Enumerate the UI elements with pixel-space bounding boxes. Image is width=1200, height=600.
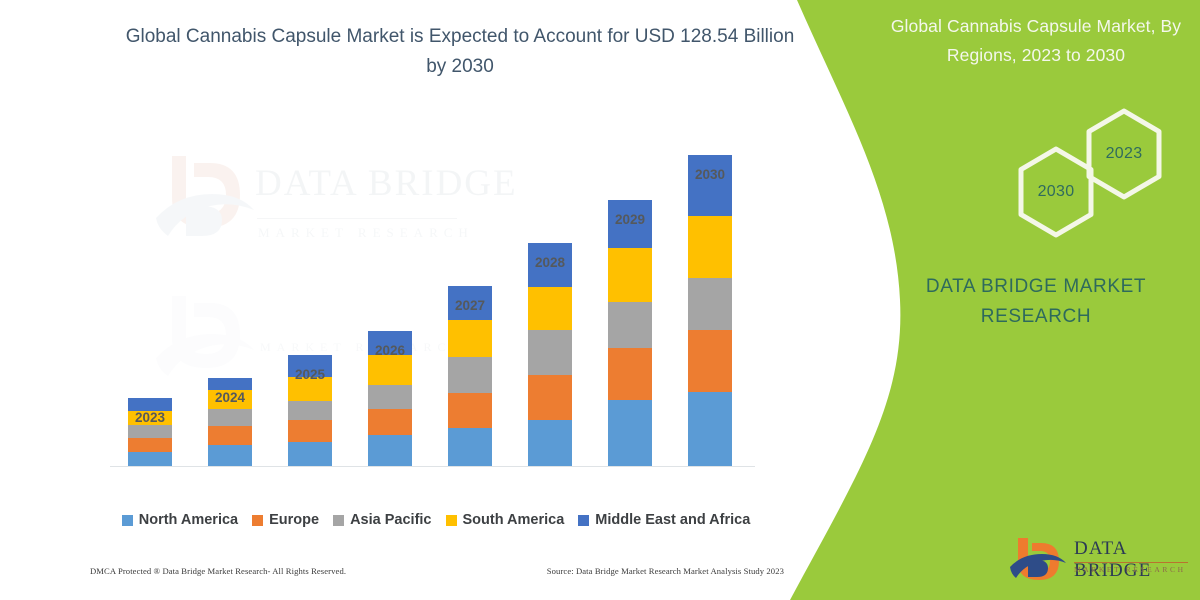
bar-column-2030[interactable]: 2030: [688, 155, 732, 466]
bar-segment-south-america[interactable]: [608, 248, 652, 302]
legend-label: Asia Pacific: [350, 512, 431, 528]
legend-item-south-america[interactable]: South America: [446, 512, 565, 528]
panel-brand-text: DATA BRIDGE MARKET RESEARCH: [888, 272, 1184, 332]
bar-segment-south-america[interactable]: [528, 287, 572, 330]
bar-segment-europe[interactable]: [448, 393, 492, 428]
bar-column-2026[interactable]: 2026: [368, 331, 412, 466]
footer-source-text: Source: Data Bridge Market Research Mark…: [547, 566, 784, 576]
hexagon-group: 2023 2030: [998, 108, 1178, 228]
bar-segment-south-america[interactable]: [368, 355, 412, 385]
data-bridge-logo-mark: [1008, 534, 1070, 586]
bar-segment-europe[interactable]: [128, 438, 172, 452]
x-axis-label-2024: 2024: [198, 390, 262, 405]
bar-segment-middle-east-and-africa[interactable]: [688, 155, 732, 216]
bar-segment-asia-pacific[interactable]: [448, 357, 492, 393]
bar-segment-middle-east-and-africa[interactable]: [208, 378, 252, 390]
x-axis-label-2027: 2027: [438, 298, 502, 313]
watermark-wordmark: DATA BRIDGE: [255, 162, 518, 205]
footer-dmca-text: DMCA Protected ® Data Bridge Market Rese…: [90, 566, 346, 576]
hexagon-2023: 2023: [1084, 108, 1164, 200]
hexagon-2023-label: 2023: [1084, 108, 1164, 200]
watermark-b-blue: [186, 206, 222, 236]
bar-column-2029[interactable]: 2029: [608, 200, 652, 466]
legend-label: Middle East and Africa: [595, 512, 750, 528]
logo-divider: [1074, 562, 1188, 563]
bar-segment-asia-pacific[interactable]: [528, 330, 572, 375]
bar-column-2024[interactable]: 2024: [208, 378, 252, 466]
bar-segment-asia-pacific[interactable]: [288, 401, 332, 421]
watermark-subtitle: MARKET RESEARCH: [258, 225, 474, 241]
hexagon-2030: 2030: [1016, 146, 1096, 238]
legend-label: South America: [463, 512, 565, 528]
legend-label: North America: [139, 512, 238, 528]
bar-column-2027[interactable]: 2027: [448, 286, 492, 466]
footer: DMCA Protected ® Data Bridge Market Rese…: [90, 566, 790, 576]
x-axis-label-2029: 2029: [598, 212, 662, 227]
legend-item-north-america[interactable]: North America: [122, 512, 238, 528]
panel-title: Global Cannabis Capsule Market, By Regio…: [880, 12, 1192, 70]
bar-segment-asia-pacific[interactable]: [128, 425, 172, 438]
watermark-divider: [257, 218, 457, 219]
legend-swatch-icon: [252, 515, 263, 526]
bar-segment-europe[interactable]: [288, 420, 332, 441]
bar-segment-asia-pacific[interactable]: [608, 302, 652, 348]
logo-wordmark: DATA BRIDGE: [1074, 538, 1190, 582]
x-axis-label-2025: 2025: [278, 367, 342, 382]
bar-segment-north-america[interactable]: [128, 452, 172, 466]
hexagon-2030-label: 2030: [1016, 146, 1096, 238]
legend-swatch-icon: [333, 515, 344, 526]
x-axis-line: [110, 466, 755, 467]
watermark-reflection: [156, 296, 254, 376]
x-axis-label-2026: 2026: [358, 343, 422, 358]
legend-label: Europe: [269, 512, 319, 528]
bar-segment-europe[interactable]: [688, 330, 732, 392]
bar-segment-europe[interactable]: [208, 426, 252, 445]
bar-segment-north-america[interactable]: [608, 400, 652, 466]
legend-swatch-icon: [578, 515, 589, 526]
bar-segment-north-america[interactable]: [288, 442, 332, 466]
bar-segment-asia-pacific[interactable]: [368, 385, 412, 409]
bar-segment-asia-pacific[interactable]: [208, 409, 252, 426]
bar-segment-south-america[interactable]: [688, 216, 732, 278]
bar-column-2025[interactable]: 2025: [288, 355, 332, 466]
data-bridge-logo: DATA BRIDGE MARKET RESEARCH: [1008, 534, 1190, 586]
legend-item-asia-pacific[interactable]: Asia Pacific: [333, 512, 431, 528]
bar-segment-south-america[interactable]: [448, 320, 492, 357]
legend-item-europe[interactable]: Europe: [252, 512, 319, 528]
bar-segment-europe[interactable]: [368, 409, 412, 436]
bar-segment-north-america[interactable]: [448, 428, 492, 466]
bar-segment-asia-pacific[interactable]: [688, 278, 732, 330]
infographic-canvas: Global Cannabis Capsule Market, By Regio…: [0, 0, 1200, 600]
logo-subtitle: MARKET RESEARCH: [1074, 565, 1186, 574]
x-axis-label-2023: 2023: [118, 410, 182, 425]
bar-segment-north-america[interactable]: [208, 445, 252, 466]
bar-segment-north-america[interactable]: [368, 435, 412, 466]
bar-segment-europe[interactable]: [528, 375, 572, 420]
chart-legend: North AmericaEuropeAsia PacificSouth Ame…: [106, 512, 766, 528]
x-axis-label-2030: 2030: [678, 167, 742, 182]
green-panel-content: Global Cannabis Capsule Market, By Regio…: [870, 0, 1200, 600]
legend-swatch-icon: [446, 515, 457, 526]
bar-column-2028[interactable]: 2028: [528, 243, 572, 466]
legend-swatch-icon: [122, 515, 133, 526]
bar-segment-north-america[interactable]: [528, 420, 572, 466]
stacked-bar-chart: DATA BRIDGE MARKET RESEARCH MARKET RESEA…: [0, 0, 800, 600]
x-axis-label-2028: 2028: [518, 255, 582, 270]
bar-segment-north-america[interactable]: [688, 392, 732, 466]
legend-item-middle-east-and-africa[interactable]: Middle East and Africa: [578, 512, 750, 528]
bar-column-2023[interactable]: 2023: [128, 398, 172, 466]
logo-b-blue: [1028, 560, 1048, 577]
bar-segment-europe[interactable]: [608, 348, 652, 400]
